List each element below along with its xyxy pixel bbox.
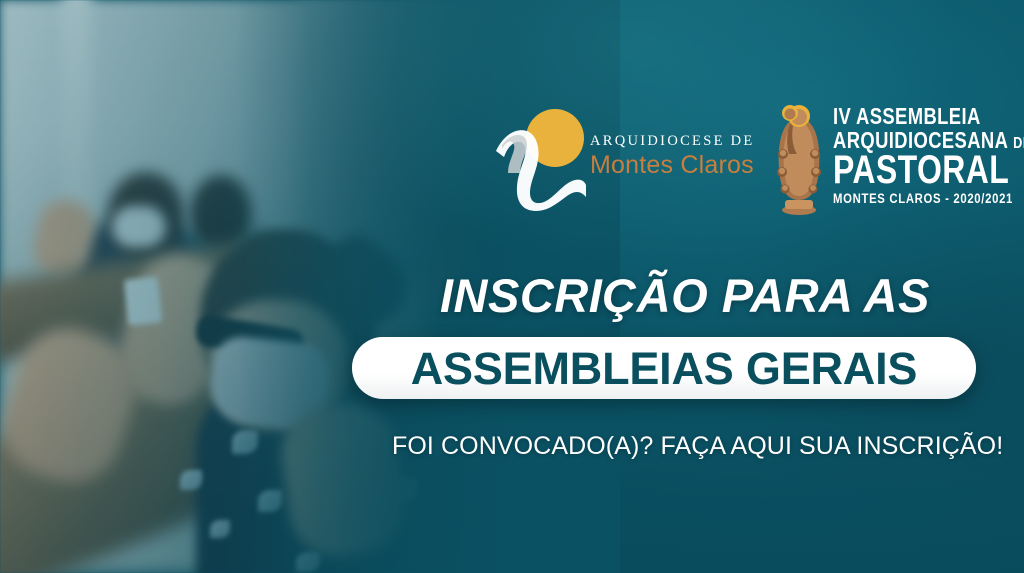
diocese-wordmark: ARQUIDIOCESE DE Montes Claros (590, 134, 755, 178)
pill-label: ASSEMBLEIAS GERAIS (411, 346, 917, 391)
logo-iv-assembleia-pastoral: IV ASSEMBLEIA ARQUIDIOCESANA DE PASTORAL… (771, 96, 1024, 216)
sun-and-river-mark-icon (494, 101, 586, 211)
our-lady-statue-icon (771, 96, 827, 216)
assembleia-wordmark: IV ASSEMBLEIA ARQUIDIOCESANA DE PASTORAL… (833, 106, 1024, 206)
assembleia-line4: MONTES CLAROS - 2020/2021 (833, 193, 1024, 206)
logo-row: ARQUIDIOCESE DE Montes Claros (494, 96, 1024, 216)
call-to-action-text: FOI CONVOCADO(A)? FAÇA AQUI SUA INSCRIÇÃ… (392, 432, 1003, 461)
diocese-line2: Montes Claros (590, 153, 755, 178)
logo-arquidiocese-montes-claros: ARQUIDIOCESE DE Montes Claros (494, 101, 755, 211)
page-title: INSCRIÇÃO PARA AS (440, 268, 930, 323)
assembleias-gerais-pill: ASSEMBLEIAS GERAIS (352, 337, 976, 399)
event-registration-banner: ARQUIDIOCESE DE Montes Claros (0, 0, 1024, 573)
diocese-line1: ARQUIDIOCESE DE (590, 134, 755, 149)
assembleia-line3: PASTORAL (833, 152, 1024, 190)
assembleia-line1: IV ASSEMBLEIA (833, 106, 1024, 128)
